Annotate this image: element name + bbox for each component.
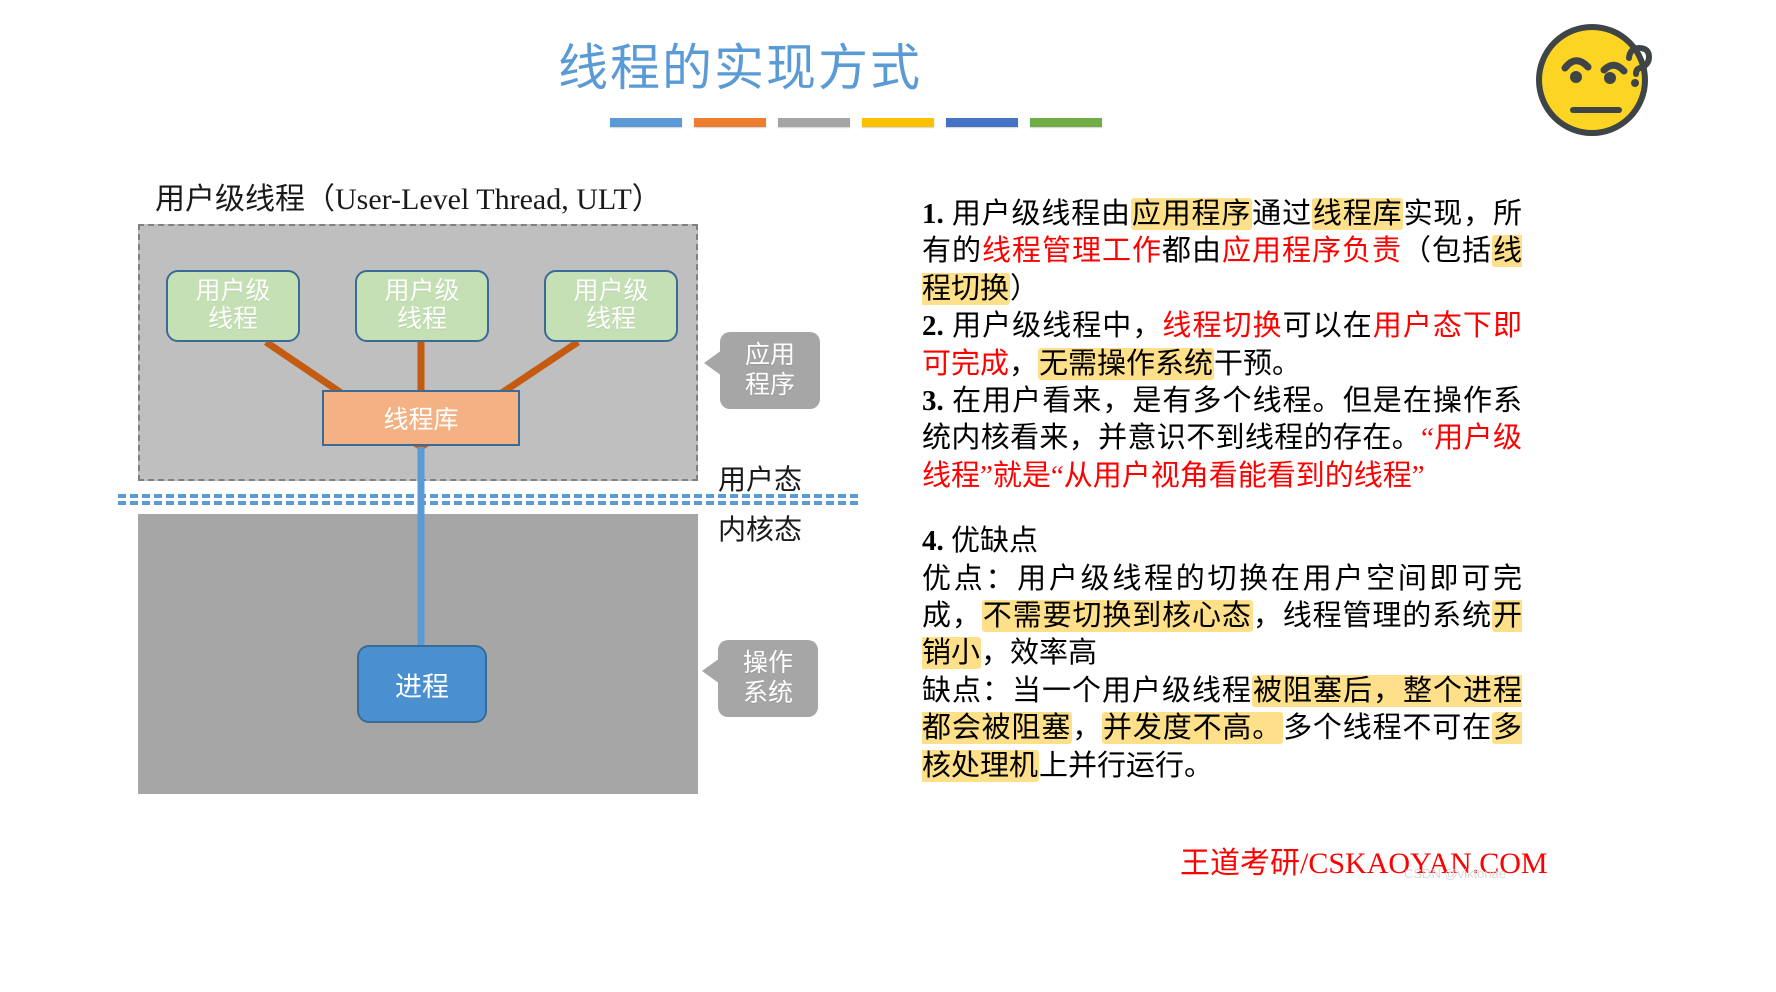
accent-bar-row	[610, 118, 1102, 127]
accent-bar-blue	[610, 118, 682, 127]
pros-label: 优点：	[922, 563, 1017, 595]
text-run: 用户级线程中，	[952, 310, 1162, 342]
text-run: 都由	[1162, 235, 1222, 267]
thread-box-line2: 线程	[208, 306, 258, 335]
accent-bar-indigo	[946, 118, 1018, 127]
thread-box-line2: 线程	[586, 306, 636, 335]
cons-body: 当一个用户级线程被阻塞后，整个进程都会被阻塞，并发度不高。多个线程不可在多核处理…	[922, 675, 1522, 782]
note-item-3: 3. 在用户看来，是有多个线程。但是在操作系统内核看来，并意识不到线程的存在。“…	[922, 383, 1522, 495]
note-4-heading-text: 优缺点	[951, 525, 1038, 557]
text-run: 线程管理工作	[982, 235, 1162, 267]
text-run: 可以在	[1283, 310, 1373, 342]
text-run: 并发度不高。	[1102, 712, 1283, 744]
accent-bar-yellow	[862, 118, 934, 127]
thread-box-line1: 用户级	[384, 278, 459, 307]
thread-box-line1: 用户级	[195, 278, 270, 307]
user-level-thread-box-3[interactable]: 用户级 线程	[544, 270, 678, 342]
text-run: 多个线程不可在	[1283, 712, 1492, 744]
accent-bar-green	[1030, 118, 1102, 127]
note-item-2: 2. 用户级线程中，线程切换可以在用户态下即可完成，无需操作系统干预。	[922, 308, 1522, 383]
process-box[interactable]: 进程	[357, 645, 487, 723]
text-run: 干预。	[1214, 348, 1301, 380]
note-3-number: 3.	[922, 385, 944, 417]
diagram-caption: 用户级线程（User-Level Thread, ULT）	[155, 174, 662, 218]
user-kernel-boundary-line-bottom	[118, 501, 858, 505]
thread-box-line2: 线程	[397, 306, 447, 335]
callout-application-program: 应用 程序	[720, 332, 820, 409]
text-run: 应用程序负责	[1222, 235, 1402, 267]
confused-face-emoji-icon	[1532, 14, 1660, 142]
cons-label: 缺点：	[922, 675, 1012, 707]
kernel-mode-label: 内核态	[718, 508, 802, 548]
page-title: 线程的实现方式	[0, 28, 1480, 100]
callout-line1: 应用	[745, 341, 795, 371]
text-run: ，	[1009, 348, 1038, 380]
text-run: 上并行运行。	[1039, 750, 1213, 782]
note-1-number: 1.	[922, 198, 944, 230]
text-run: 不需要切换到核心态	[982, 600, 1253, 632]
callout-line2: 系统	[743, 679, 793, 709]
user-level-thread-box-2[interactable]: 用户级 线程	[355, 270, 489, 342]
accent-bar-gray	[778, 118, 850, 127]
text-run: 通过	[1252, 198, 1312, 230]
text-run: 无需操作系统	[1038, 348, 1214, 380]
text-run: 线程库	[1312, 198, 1404, 230]
text-run: 线程切换	[1162, 310, 1282, 342]
thread-box-line1: 用户级	[573, 278, 648, 307]
notes-spacer	[922, 495, 1522, 523]
note-item-4-heading: 4. 优缺点	[922, 523, 1522, 560]
thread-library-box[interactable]: 线程库	[322, 390, 520, 446]
note-3-body: 在用户看来，是有多个线程。但是在操作系统内核看来，并意识不到线程的存在。“用户级…	[922, 385, 1522, 492]
user-mode-label: 用户态	[718, 458, 802, 498]
note-1-body: 用户级线程由应用程序通过线程库实现，所有的线程管理工作都由应用程序负责（包括线程…	[922, 198, 1522, 305]
slide-canvas: 线程的实现方式 用户级线程（User-Level Thread, ULT） 用户…	[0, 0, 1776, 992]
text-run: ）	[1010, 273, 1039, 305]
note-2-number: 2.	[922, 310, 944, 342]
note-4-number: 4.	[922, 525, 944, 557]
user-level-thread-box-1[interactable]: 用户级 线程	[166, 270, 300, 342]
text-run: ，	[1072, 712, 1102, 744]
text-run: ，效率高	[981, 637, 1097, 669]
note-item-4-cons: 缺点：当一个用户级线程被阻塞后，整个进程都会被阻塞，并发度不高。多个线程不可在多…	[922, 673, 1522, 785]
callout-operating-system: 操作 系统	[718, 640, 818, 717]
text-run: （包括	[1402, 235, 1492, 267]
text-run: 当一个用户级线程	[1012, 675, 1252, 707]
text-run: 用户级线程由	[952, 198, 1131, 230]
callout-line1: 操作	[743, 649, 793, 679]
note-2-body: 用户级线程中，线程切换可以在用户态下即可完成，无需操作系统干预。	[922, 310, 1522, 379]
callout-line2: 程序	[745, 371, 795, 401]
text-run: ，线程管理的系统	[1253, 600, 1492, 632]
note-item-1: 1. 用户级线程由应用程序通过线程库实现，所有的线程管理工作都由应用程序负责（包…	[922, 196, 1522, 308]
notes-panel: 1. 用户级线程由应用程序通过线程库实现，所有的线程管理工作都由应用程序负责（包…	[922, 196, 1522, 785]
note-item-4-pros: 优点：用户级线程的切换在用户空间即可完成，不需要切换到核心态，线程管理的系统开销…	[922, 561, 1522, 673]
watermark: CSDN @viktoriae	[1404, 866, 1506, 881]
text-run: 应用程序	[1131, 198, 1252, 230]
accent-bar-orange	[694, 118, 766, 127]
